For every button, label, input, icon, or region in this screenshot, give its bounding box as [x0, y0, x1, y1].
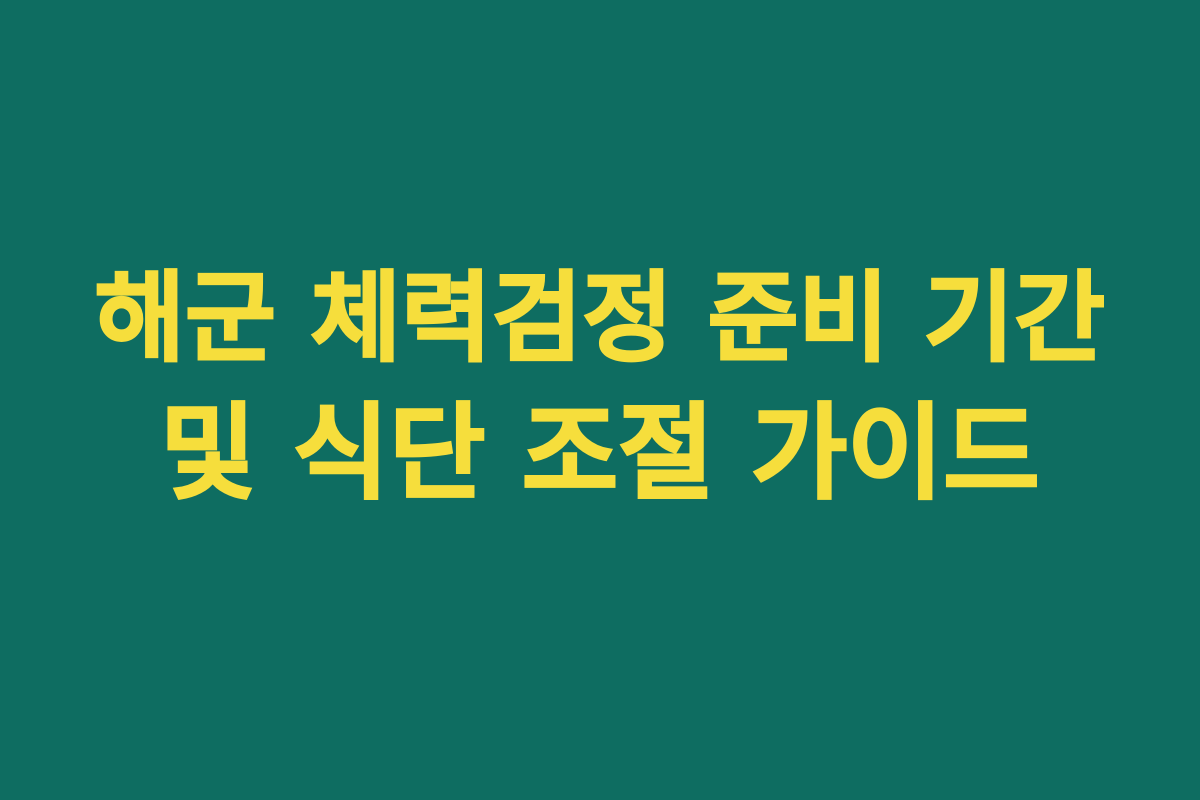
title-line-1: 해군 체력검정 준비 기간 [95, 254, 1105, 384]
page-title: 해군 체력검정 준비 기간 및 식단 조절 가이드 [50, 254, 1150, 523]
title-banner: 해군 체력검정 준비 기간 및 식단 조절 가이드 [0, 0, 1200, 800]
title-line-2: 및 식단 조절 가이드 [160, 384, 1040, 522]
